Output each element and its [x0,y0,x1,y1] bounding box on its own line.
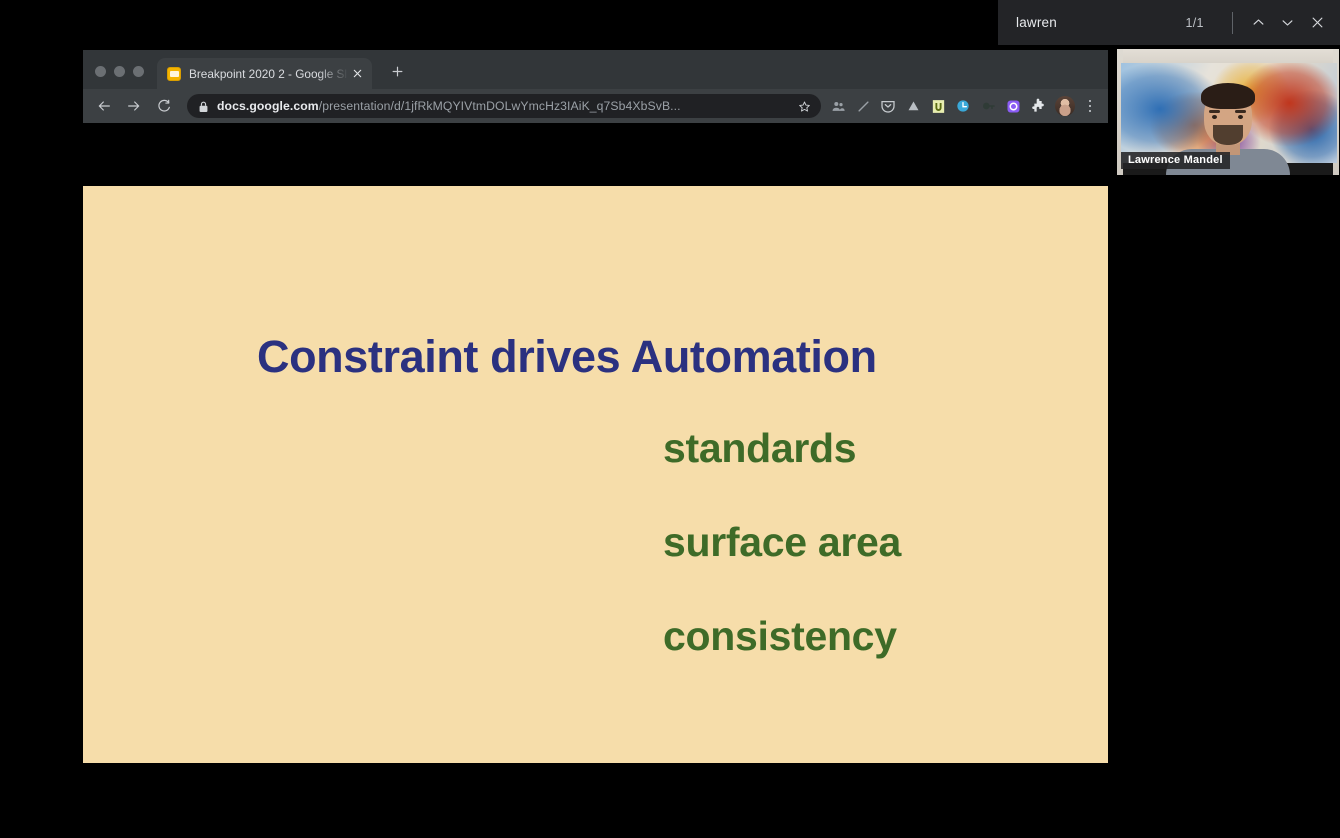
slide-bullet-item: standards [663,425,901,472]
find-in-page-bar: 1/1 [998,0,1340,45]
arrow-right-icon [126,98,142,114]
participant-name-label: Lawrence Mandel [1121,152,1230,169]
browser-tab[interactable]: Breakpoint 2020 2 - Google Sl [157,58,372,89]
slide-bullet-item: surface area [663,519,901,566]
tab-close-button[interactable] [349,65,366,82]
puzzle-piece-icon[interactable] [1027,95,1049,117]
find-previous-button[interactable] [1243,8,1273,38]
star-icon [798,100,811,113]
google-drive-icon[interactable] [902,95,924,117]
pen-icon[interactable] [852,95,874,117]
kebab-menu-icon[interactable] [1080,95,1100,117]
tab-strip: Breakpoint 2020 2 - Google Sl [83,50,1108,89]
window-maximize-button[interactable] [133,66,144,77]
blue-circle-icon[interactable] [952,95,974,117]
slide-canvas: Constraint drives Automation standards s… [83,186,1108,763]
slide-title: Constraint drives Automation [257,331,877,383]
key-icon[interactable] [977,95,999,117]
close-icon [1310,15,1325,30]
wall-background [1117,49,1340,63]
screen-root: 1/1 Breakp [0,0,1340,838]
lock-icon [198,100,209,113]
browser-toolbar: docs.google.com/presentation/d/1jfRkMQYI… [83,89,1108,123]
forward-button[interactable] [121,93,147,119]
video-participant-tile[interactable]: Lawrence Mandel [1116,48,1340,176]
new-tab-button[interactable] [384,58,410,84]
window-close-button[interactable] [95,66,106,77]
window-minimize-button[interactable] [114,66,125,77]
window-controls [83,66,144,89]
close-icon [352,68,363,79]
arrow-left-icon [96,98,112,114]
bookmark-star-button[interactable] [795,97,813,115]
find-close-button[interactable] [1302,8,1332,38]
purple-circle-icon[interactable] [1002,95,1024,117]
people-icon[interactable] [827,95,849,117]
avatar[interactable] [1055,96,1075,116]
find-divider [1232,12,1233,34]
address-bar-url: docs.google.com/presentation/d/1jfRkMQYI… [217,99,795,113]
plus-icon [391,65,404,78]
url-domain: docs.google.com [217,99,319,113]
slide-bullet-item: consistency [663,613,901,660]
back-button[interactable] [91,93,117,119]
address-bar[interactable]: docs.google.com/presentation/d/1jfRkMQYI… [187,94,821,118]
find-input[interactable] [1016,15,1171,30]
url-path: /presentation/d/1jfRkMQYIVtmDOLwYmcHz3IA… [319,99,681,113]
google-slides-icon [167,67,181,81]
chevron-up-icon [1251,15,1266,30]
find-next-button[interactable] [1273,8,1303,38]
reload-button[interactable] [151,93,177,119]
reload-icon [156,98,172,114]
chevron-down-icon [1280,15,1295,30]
browser-window: Breakpoint 2020 2 - Google Sl [83,50,1108,788]
pocket-icon[interactable] [877,95,899,117]
slide-bullet-list: standards surface area consistency [663,425,901,660]
u-block-icon[interactable] [927,95,949,117]
tab-title: Breakpoint 2020 2 - Google Sl [189,67,349,81]
presentation-viewport[interactable]: Constraint drives Automation standards s… [83,123,1108,788]
extensions-row [827,95,1049,117]
find-match-count: 1/1 [1171,16,1218,30]
